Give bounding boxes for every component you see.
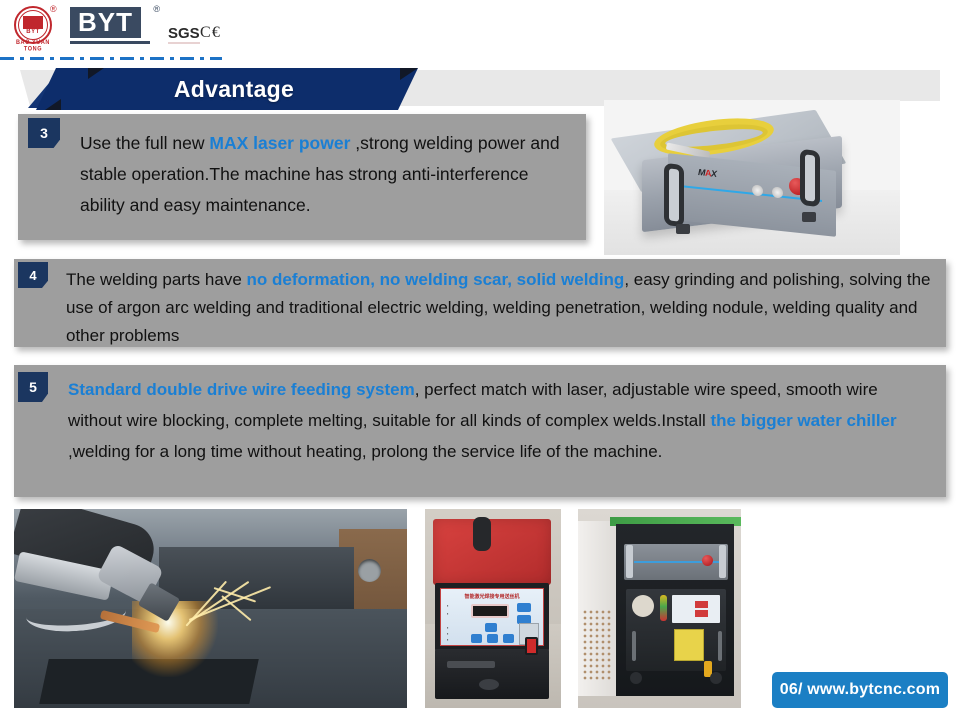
- callout-highlight-text: the bigger water chiller: [711, 411, 897, 430]
- slide-header: BYT BAO YUAN TONG ® BYT ® SGS C €: [0, 0, 960, 52]
- cabinet-laser-handle-right: [719, 545, 726, 578]
- laser-knob-2: [772, 186, 783, 198]
- page-title: Advantage: [36, 68, 418, 110]
- cabinet-caster-right: [710, 672, 722, 684]
- byt-wordmark-logo: BYT ®: [70, 7, 150, 44]
- feeder-bottom-knob: [479, 679, 499, 690]
- laser-welding-photo: [14, 509, 407, 708]
- header-dashed-divider: [0, 57, 222, 60]
- feeder-button-a: [471, 634, 482, 643]
- laser-source-photo: MAX: [604, 100, 900, 255]
- chiller-cabinet-photo: [578, 509, 741, 708]
- cabinet-perforated-grill: [582, 609, 612, 681]
- wire-feeder-photo: 智能激光焊接专用送丝机 ▪ ▪ ▪ ▪ ▪: [425, 509, 561, 708]
- feeder-red-top-cover: [433, 519, 551, 585]
- feeder-power-switch: [525, 637, 538, 655]
- emblem-registered-icon: ®: [50, 4, 57, 14]
- feeder-label-5: ▪: [447, 637, 448, 642]
- callout-4-text: The welding parts have no deformation, n…: [28, 266, 932, 350]
- feeder-label-1: ▪: [447, 603, 448, 608]
- callout-5-text: Standard double drive wire feeding syste…: [28, 374, 932, 467]
- chiller-warning-label: [674, 629, 704, 661]
- feeder-carry-handle: [473, 517, 491, 551]
- callout-box-4: The welding parts have no deformation, n…: [14, 259, 946, 347]
- laser-handle-right: [800, 149, 820, 207]
- chiller-readout-1: [695, 601, 708, 608]
- feeder-button-b: [487, 634, 498, 643]
- emblem-initials: BYT: [22, 29, 44, 35]
- byt-registered-icon: ®: [153, 4, 160, 14]
- bao-yuan-tong-emblem-icon: BYT BAO YUAN TONG ®: [6, 4, 60, 54]
- byt-logo-text: BYT: [78, 8, 133, 36]
- callout-plain-text: Use the full new: [80, 133, 209, 153]
- callout-3-text: Use the full new MAX laser power ,strong…: [34, 128, 570, 221]
- feeder-button-set: [485, 623, 497, 632]
- chiller-fan-cover: [632, 595, 654, 617]
- callout-4-number-badge: 4: [18, 262, 48, 288]
- chiller-level-gauge: [660, 595, 667, 621]
- cabinet-laser-handle-left: [626, 545, 633, 578]
- callout-highlight-text: Standard double drive wire feeding syste…: [68, 380, 415, 399]
- feeder-label-2: ▪: [447, 611, 448, 616]
- byt-logo-underline: [70, 41, 150, 44]
- laser-foot-right: [802, 212, 816, 222]
- laser-knob-1: [752, 184, 763, 196]
- callout-highlight-text: no deformation, no welding scar, solid w…: [247, 270, 625, 289]
- feeder-button-up: [517, 603, 531, 612]
- laser-handle-left: [664, 163, 684, 227]
- feeder-label-4: ▪: [447, 631, 448, 636]
- weld-plate-hole: [358, 559, 381, 582]
- emblem-company-text: BAO YUAN TONG: [6, 39, 60, 52]
- feeder-display-screen: [471, 604, 509, 618]
- callout-plain-text: ,welding for a long time without heating…: [68, 442, 662, 461]
- chiller-handle-left: [632, 631, 636, 661]
- callout-3-number-badge: 3: [28, 118, 60, 148]
- max-brand-logo: MAX: [698, 167, 717, 179]
- callout-highlight-text: MAX laser power: [209, 133, 350, 153]
- chiller-handle-right: [718, 631, 722, 661]
- callout-box-5: Standard double drive wire feeding syste…: [14, 365, 946, 497]
- feeder-panel-title: 智能激光焊接专用送丝机: [441, 593, 543, 600]
- laser-foot-left: [676, 224, 690, 234]
- feeder-button-c: [503, 634, 514, 643]
- byt-logo-box: BYT: [70, 7, 141, 38]
- chiller-readout-2: [695, 610, 708, 617]
- sgs-certification-mark: SGS: [168, 25, 200, 44]
- slide-page: BYT BAO YUAN TONG ® BYT ® SGS C € Advant…: [0, 0, 960, 720]
- cabinet-emergency-stop-icon: [702, 555, 713, 566]
- callout-plain-text: The welding parts have: [66, 270, 247, 289]
- callout-5-number-badge: 5: [18, 372, 48, 402]
- feeder-vent: [447, 661, 495, 668]
- feeder-label-3: ▪: [447, 625, 448, 630]
- feeder-lower-cabinet: [435, 649, 549, 699]
- ce-certification-mark: C €: [200, 24, 219, 42]
- cabinet-caster-left: [630, 672, 642, 684]
- callout-box-3: Use the full new MAX laser power ,strong…: [18, 114, 586, 240]
- chiller-control-display: [672, 595, 720, 623]
- footer-page-website-badge: 06/ www.bytcnc.com: [772, 672, 948, 708]
- emblem-inner-mark: [23, 16, 43, 29]
